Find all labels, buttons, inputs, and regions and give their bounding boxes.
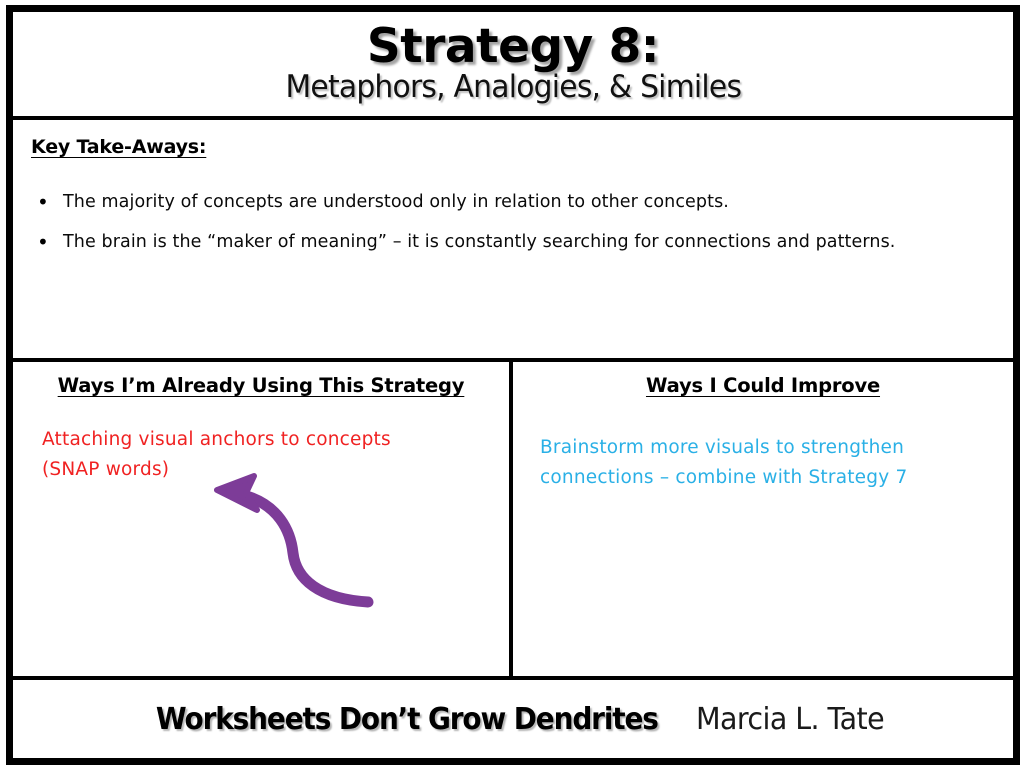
key-takeaways-heading: Key Take-Aways:: [31, 136, 206, 158]
page-title: Strategy 8:: [367, 24, 659, 70]
column-could-improve: Ways I Could Improve Brainstorm more vis…: [513, 362, 1013, 676]
handwritten-note-could-improve: Brainstorm more visuals to strengthen co…: [540, 433, 997, 493]
footer-section: Worksheets Don’t Grow Dendrites Marcia L…: [13, 680, 1013, 758]
column-heading-already-using: Ways I’m Already Using This Strategy: [29, 374, 493, 397]
handwritten-note-already-using: Attaching visual anchors to concepts (SN…: [42, 425, 493, 485]
page-subtitle: Metaphors, Analogies, & Similes: [285, 71, 741, 104]
column-already-using: Ways I’m Already Using This Strategy Att…: [13, 362, 513, 676]
column-heading-could-improve: Ways I Could Improve: [529, 374, 997, 397]
column-heading-already-using-label: Ways I’m Already Using This Strategy: [58, 374, 465, 397]
reflection-columns: Ways I’m Already Using This Strategy Att…: [13, 362, 1013, 680]
list-item: The majority of concepts are understood …: [31, 192, 995, 214]
worksheet-body: Strategy 8: Metaphors, Analogies, & Simi…: [13, 12, 1013, 758]
footer-author: Marcia L. Tate: [696, 702, 884, 737]
worksheet-page: Strategy 8: Metaphors, Analogies, & Simi…: [0, 0, 1027, 772]
list-item: The brain is the “maker of meaning” – it…: [31, 232, 995, 254]
column-heading-could-improve-label: Ways I Could Improve: [646, 374, 880, 397]
header-section: Strategy 8: Metaphors, Analogies, & Simi…: [13, 12, 1013, 120]
key-takeaways-list: The majority of concepts are understood …: [31, 192, 995, 254]
key-takeaways-section: Key Take-Aways: The majority of concepts…: [13, 120, 1013, 362]
footer-book-title: Worksheets Don’t Grow Dendrites: [156, 702, 658, 737]
